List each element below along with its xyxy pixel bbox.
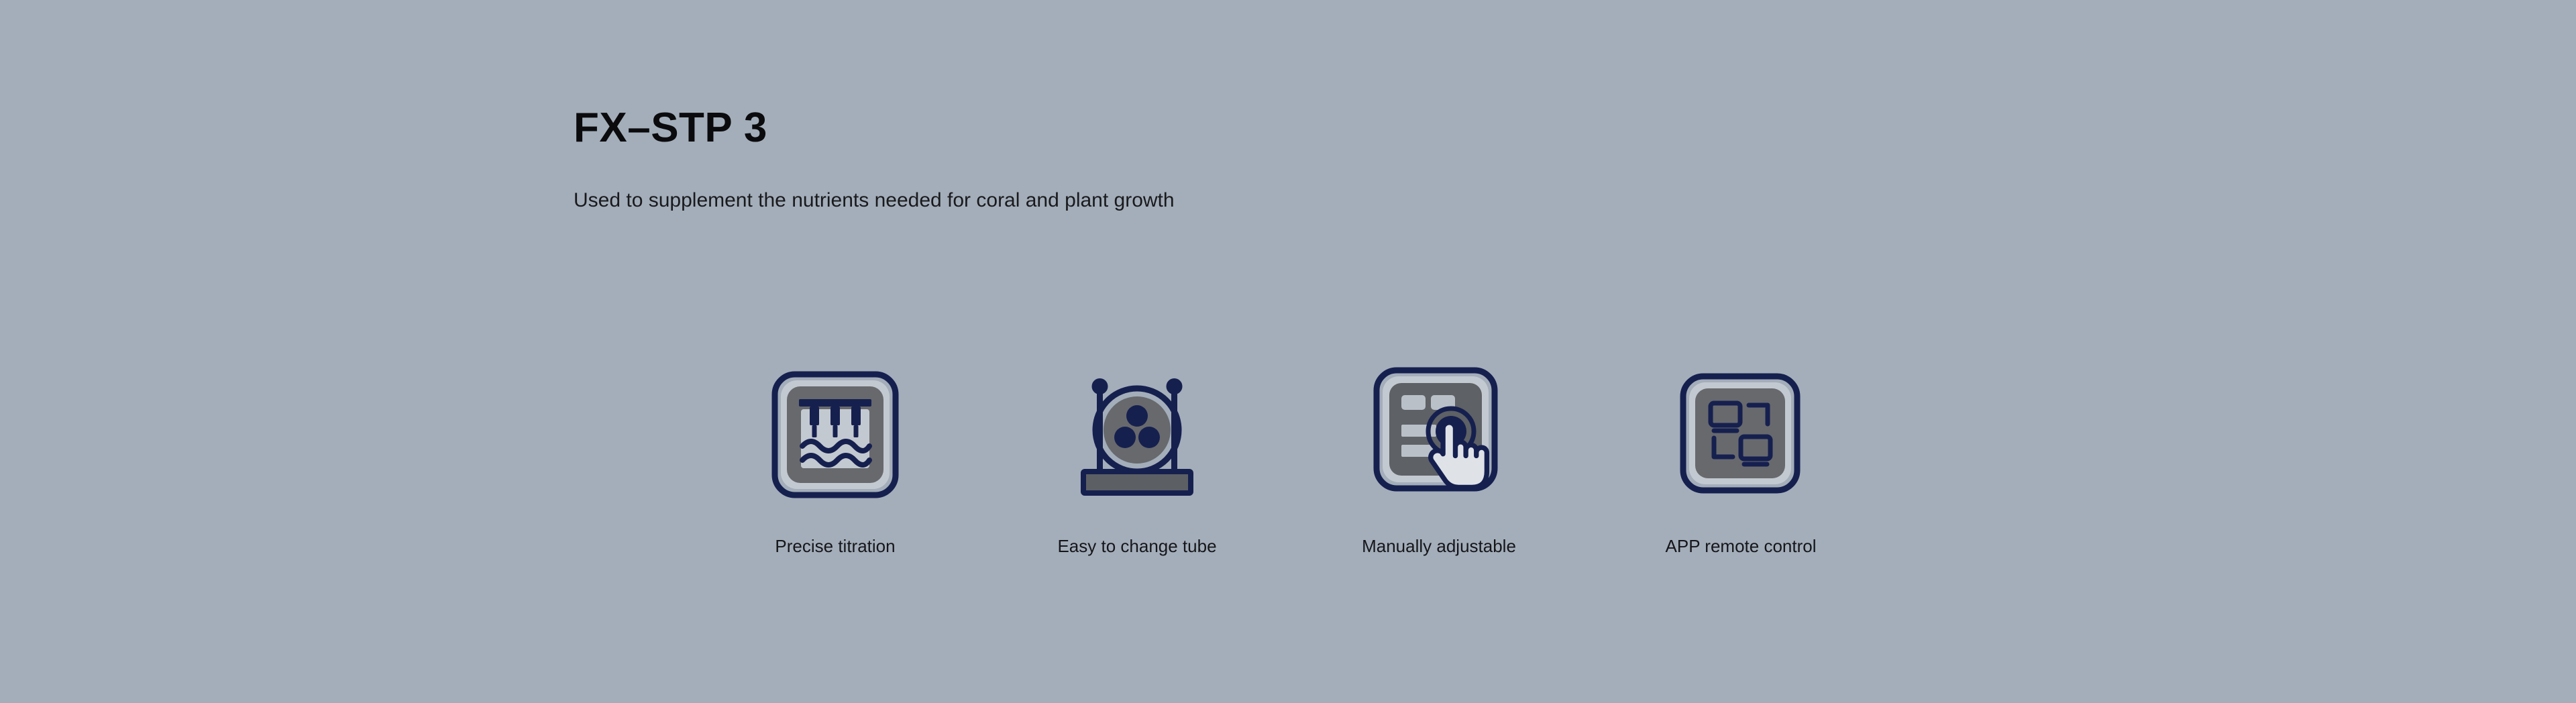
precise-titration-icon	[771, 368, 900, 502]
icon-container	[1372, 362, 1506, 506]
feature-label: Easy to change tube	[1057, 536, 1216, 557]
page-title: FX–STP 3	[574, 107, 1175, 149]
icon-container	[1070, 362, 1204, 506]
feature-label: APP remote control	[1666, 536, 1817, 557]
feature-label: Precise titration	[775, 536, 895, 557]
feature-item-app-remote-control: APP remote control	[1590, 362, 1892, 557]
icon-container	[771, 362, 900, 506]
feature-label: Manually adjustable	[1362, 536, 1516, 557]
feature-item-precise-titration: Precise titration	[684, 362, 986, 557]
touchscreen-hand-icon	[1372, 366, 1506, 503]
page-root: FX–STP 3 Used to supplement the nutrient…	[0, 0, 2576, 703]
feature-item-manually-adjustable: Manually adjustable	[1288, 362, 1590, 557]
feature-item-easy-to-change-tube: Easy to change tube	[986, 362, 1288, 557]
page-subtitle: Used to supplement the nutrients needed …	[574, 149, 1175, 211]
header-block: FX–STP 3 Used to supplement the nutrient…	[574, 107, 1175, 211]
icon-container	[1679, 362, 1803, 506]
peristaltic-pump-head-icon	[1070, 368, 1204, 502]
feature-list: Precise titration	[684, 362, 1892, 584]
app-remote-control-icon	[1679, 371, 1803, 498]
